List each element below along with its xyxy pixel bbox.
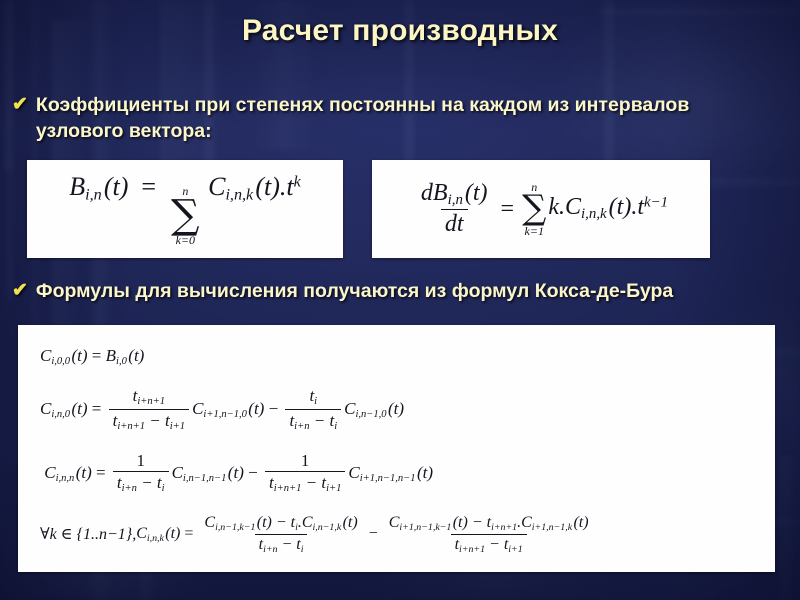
cd2-f2-denominator: ti+n − ti [285,409,341,433]
basis-term: Ci,n,k (t).tk [208,172,301,201]
derivative-equals: = [495,196,521,223]
formula-box-derivative: dBi,n (t) dt = n ∑ k=1 k.Ci,n,k (t).tk−1 [372,160,710,258]
summation-symbol: n ∑ k=1 [522,181,546,237]
cd2-lhs: Ci,n,0 (t) [40,399,88,420]
cd3-f1-numerator: 1 [132,451,149,471]
cd1-expression: Ci,0,0 (t) = Bi,0 (t) [40,346,144,367]
summation-symbol: n ∑ k=0 [171,185,200,247]
bullet-item-2: ✔ Формулы для вычисления получаются из ф… [12,278,752,304]
derivative-fraction: dBi,n (t) dt [417,180,492,239]
cd4-f1-numerator: Ci,n−1,k−1 (t) − ti.Ci,n−1,k (t) [200,514,361,534]
cd3-f1-denominator: ti+n − ti [113,471,169,495]
cd3-term-1: Ci,n−1,n−1 (t) [172,463,244,484]
cd2-operator: − [264,399,282,419]
slide-title: Расчет производных [0,14,800,48]
formula-box-basis: Bi,n (t) = n ∑ k=0 Ci,n,k (t).tk [27,160,343,258]
derivative-term: k.Ci,n,k (t).tk−1 [548,194,668,223]
cd4-quantifier: ∀k ∈ {1..n−1}, [40,524,136,544]
cd2-f1-numerator: ti+n+1 [129,386,169,409]
basis-equals: = [135,172,163,201]
cd3-expression: Ci,n,n (t) = 1 ti+n − ti Ci,n−1,n−1 (t) … [40,451,433,495]
check-icon: ✔ [12,278,28,304]
cd3-f2-numerator: 1 [297,451,314,471]
cd4-f1-denominator: ti+n − ti [255,534,308,555]
cd2-fraction-1: ti+n+1 ti+n+1 − ti+1 [109,386,189,433]
sigma-glyph: ∑ [171,197,200,234]
cd4-operator: − [365,525,382,543]
cd4-expression: ∀k ∈ {1..n−1}, Ci,n,k (t) = Ci,n−1,k−1 (… [40,514,596,555]
cd4-f2-denominator: ti+n+1 − ti+1 [451,534,527,555]
cd2-term-2: Ci,n−1,0 (t) [344,399,404,420]
sum-lower-limit: k=0 [176,234,195,247]
cd3-fraction-1: 1 ti+n − ti [113,451,169,495]
cd2-equals: = [88,399,106,419]
sum-lower-limit: k=1 [525,225,544,238]
cd2-f2-numerator: ti [305,386,321,409]
derivative-denominator: dt [441,209,468,238]
bullet-text-1: Коэффициенты при степенях постоянны на к… [36,92,752,144]
cd2-f1-denominator: ti+n+1 − ti+1 [109,409,189,433]
cd2-fraction-2: ti ti+n − ti [285,386,341,433]
cd4-lhs: Ci,n,k (t) [136,525,180,544]
check-icon: ✔ [12,92,28,118]
derivative-numerator: dBi,n (t) [417,180,492,210]
cox-de-boor-line-4: ∀k ∈ {1..n−1}, Ci,n,k (t) = Ci,n−1,k−1 (… [40,514,765,555]
cox-de-boor-line-3: Ci,n,n (t) = 1 ti+n − ti Ci,n−1,n−1 (t) … [40,451,765,495]
cox-de-boor-line-1: Ci,0,0 (t) = Bi,0 (t) [40,346,765,367]
cd2-expression: Ci,n,0 (t) = ti+n+1 ti+n+1 − ti+1 Ci+1,n… [40,386,404,433]
sigma-glyph: ∑ [522,193,546,224]
cd4-fraction-2: Ci+1,n−1,k−1 (t) − ti+n+1.Ci+1,n−1,k (t)… [385,514,593,555]
cox-de-boor-line-2: Ci,n,0 (t) = ti+n+1 ti+n+1 − ti+1 Ci+1,n… [40,386,765,433]
cd2-term-1: Ci+1,n−1,0 (t) [192,399,264,420]
cd4-equals: = [180,525,197,543]
bullet-text-2: Формулы для вычисления получаются из фор… [36,278,673,304]
cd4-fraction-1: Ci,n−1,k−1 (t) − ti.Ci,n−1,k (t) ti+n − … [200,514,361,555]
formula-basis: Bi,n (t) = n ∑ k=0 Ci,n,k (t).tk [69,172,301,247]
cd3-equals: = [92,463,110,483]
presentation-slide: Расчет производных ✔ Коэффициенты при ст… [0,0,800,600]
cd3-fraction-2: 1 ti+n+1 − ti+1 [265,451,345,495]
formula-derivative: dBi,n (t) dt = n ∑ k=1 k.Ci,n,k (t).tk−1 [414,180,668,239]
basis-lhs: Bi,n (t) [69,172,128,201]
cd3-term-2: Ci+1,n−1,n−1 (t) [348,463,433,484]
formula-box-cox-de-boor: Ci,0,0 (t) = Bi,0 (t) Ci,n,0 (t) = ti+n+… [18,325,775,572]
bullet-item-1: ✔ Коэффициенты при степенях постоянны на… [12,92,752,144]
cd3-lhs: Ci,n,n (t) [40,463,92,484]
cd3-f2-denominator: ti+n+1 − ti+1 [265,471,345,495]
cd4-f2-numerator: Ci+1,n−1,k−1 (t) − ti+n+1.Ci+1,n−1,k (t) [385,514,593,534]
cd3-operator: − [244,463,262,483]
